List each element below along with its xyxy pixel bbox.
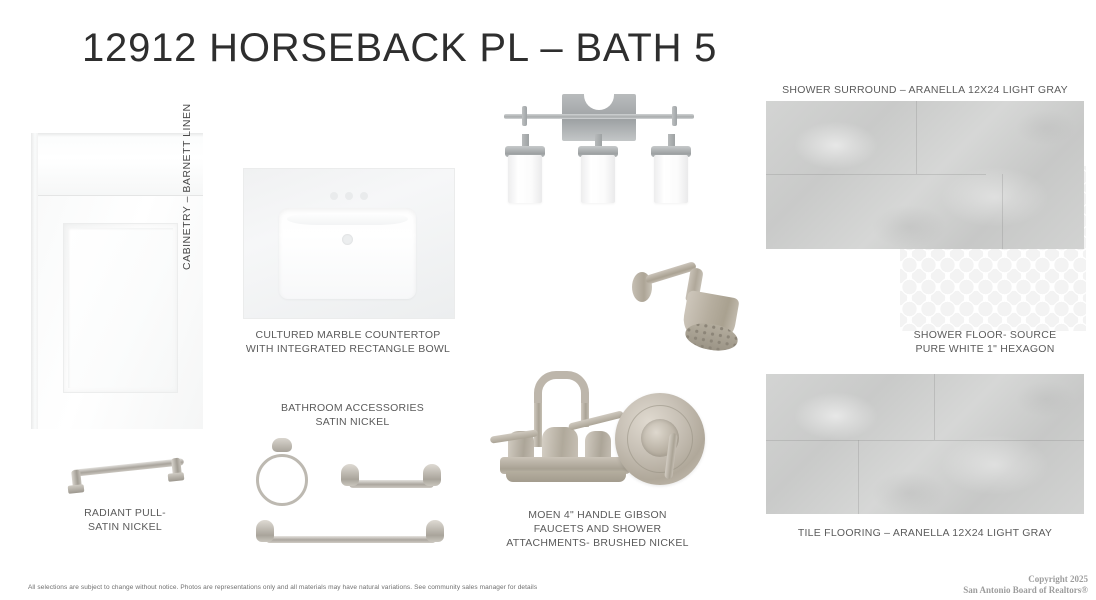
light-glass-shade-2: [581, 155, 615, 203]
cabinet-drawer-front: [38, 133, 203, 196]
footer-disclaimer: All selections are subject to change wit…: [28, 584, 537, 591]
integrated-rectangle-bowl: [279, 208, 416, 299]
faucet-hole-center-icon: [345, 192, 353, 200]
tile-seam-vertical-upper: [916, 101, 917, 174]
shower-surround-tile-sample: [766, 101, 1084, 249]
floor-tile-seam-vertical-upper: [934, 374, 935, 440]
shower-valve-trim-sample: [615, 393, 705, 485]
light-crossbar-end-right: [672, 106, 677, 126]
cabinet-door-frame: [63, 223, 178, 393]
towel-bar-post-right: [426, 520, 444, 542]
towel-bar: [256, 516, 444, 548]
cabinet-door-face: [38, 196, 203, 429]
shower-surround-caption: SHOWER SURROUND – ARANELLA 12X24 LIGHT G…: [766, 83, 1084, 97]
bowl-sheen: [287, 213, 408, 225]
cabinet-door-panel: [68, 228, 173, 388]
design-selection-board: 12912 HORSEBACK PL – BATH 5 CABINETRY – …: [0, 0, 1096, 600]
bowl-drain-icon: [342, 234, 353, 245]
accessories-caption: BATHROOM ACCESSORIES SATIN NICKEL: [255, 401, 450, 429]
footer-copyright: Copyright 2025 San Antonio Board of Real…: [963, 574, 1088, 596]
cabinetry-label: CABINETRY – BARNETT LINEN: [181, 120, 193, 270]
light-backplate-notch: [584, 94, 614, 110]
cabinet-door-sample: [31, 133, 203, 429]
light-crossbar-end-left: [522, 106, 527, 126]
bathroom-accessories-sample: [248, 436, 453, 551]
shower-floor-caption: SHOWER FLOOR- SOURCE PURE WHITE 1" HEXAG…: [885, 328, 1085, 356]
faucet-spout-riser: [534, 403, 542, 447]
toilet-paper-holder-post-right: [423, 464, 441, 486]
pull-foot-left: [68, 484, 85, 494]
faucet-hole-left-icon: [330, 192, 338, 200]
countertop-sample: [243, 168, 455, 319]
toilet-paper-holder-post-left: [341, 464, 359, 486]
floor-tile-sample: [766, 374, 1084, 514]
towel-bar-rod: [266, 536, 436, 543]
faucet-base-plate: [506, 471, 626, 482]
shower-head-sample: [630, 262, 750, 357]
tile-seam-horizontal: [766, 174, 986, 175]
cabinet-pull-sample: [62, 452, 192, 497]
toilet-paper-holder-bar: [349, 480, 434, 488]
vanity-light-fixture: [500, 92, 698, 192]
light-crossbar: [504, 114, 694, 119]
towel-ring: [256, 454, 308, 506]
faucet-hole-right-icon: [360, 192, 368, 200]
countertop-caption: CULTURED MARBLE COUNTERTOP WITH INTEGRAT…: [238, 328, 458, 356]
light-glass-shade-3: [654, 155, 688, 203]
floor-tile-seam-vertical-lower: [858, 440, 859, 514]
light-glass-shade-1: [508, 155, 542, 203]
toilet-paper-holder: [341, 458, 441, 494]
pull-caption: RADIANT PULL- SATIN NICKEL: [45, 506, 205, 534]
tile-flooring-caption: TILE FLOORING – ARANELLA 12X24 LIGHT GRA…: [766, 526, 1084, 540]
pull-foot-right: [168, 472, 185, 482]
page-title: 12912 HORSEBACK PL – BATH 5: [82, 26, 717, 71]
towel-bar-post-left: [256, 520, 274, 542]
faucets-caption: MOEN 4" HANDLE GIBSON FAUCETS AND SHOWER…: [490, 508, 705, 550]
cabinet-drawer-bevel: [38, 133, 203, 137]
towel-ring-post: [272, 438, 292, 452]
tile-seam-vertical-lower: [1002, 174, 1003, 249]
floor-tile-seam-horizontal: [766, 440, 1084, 441]
